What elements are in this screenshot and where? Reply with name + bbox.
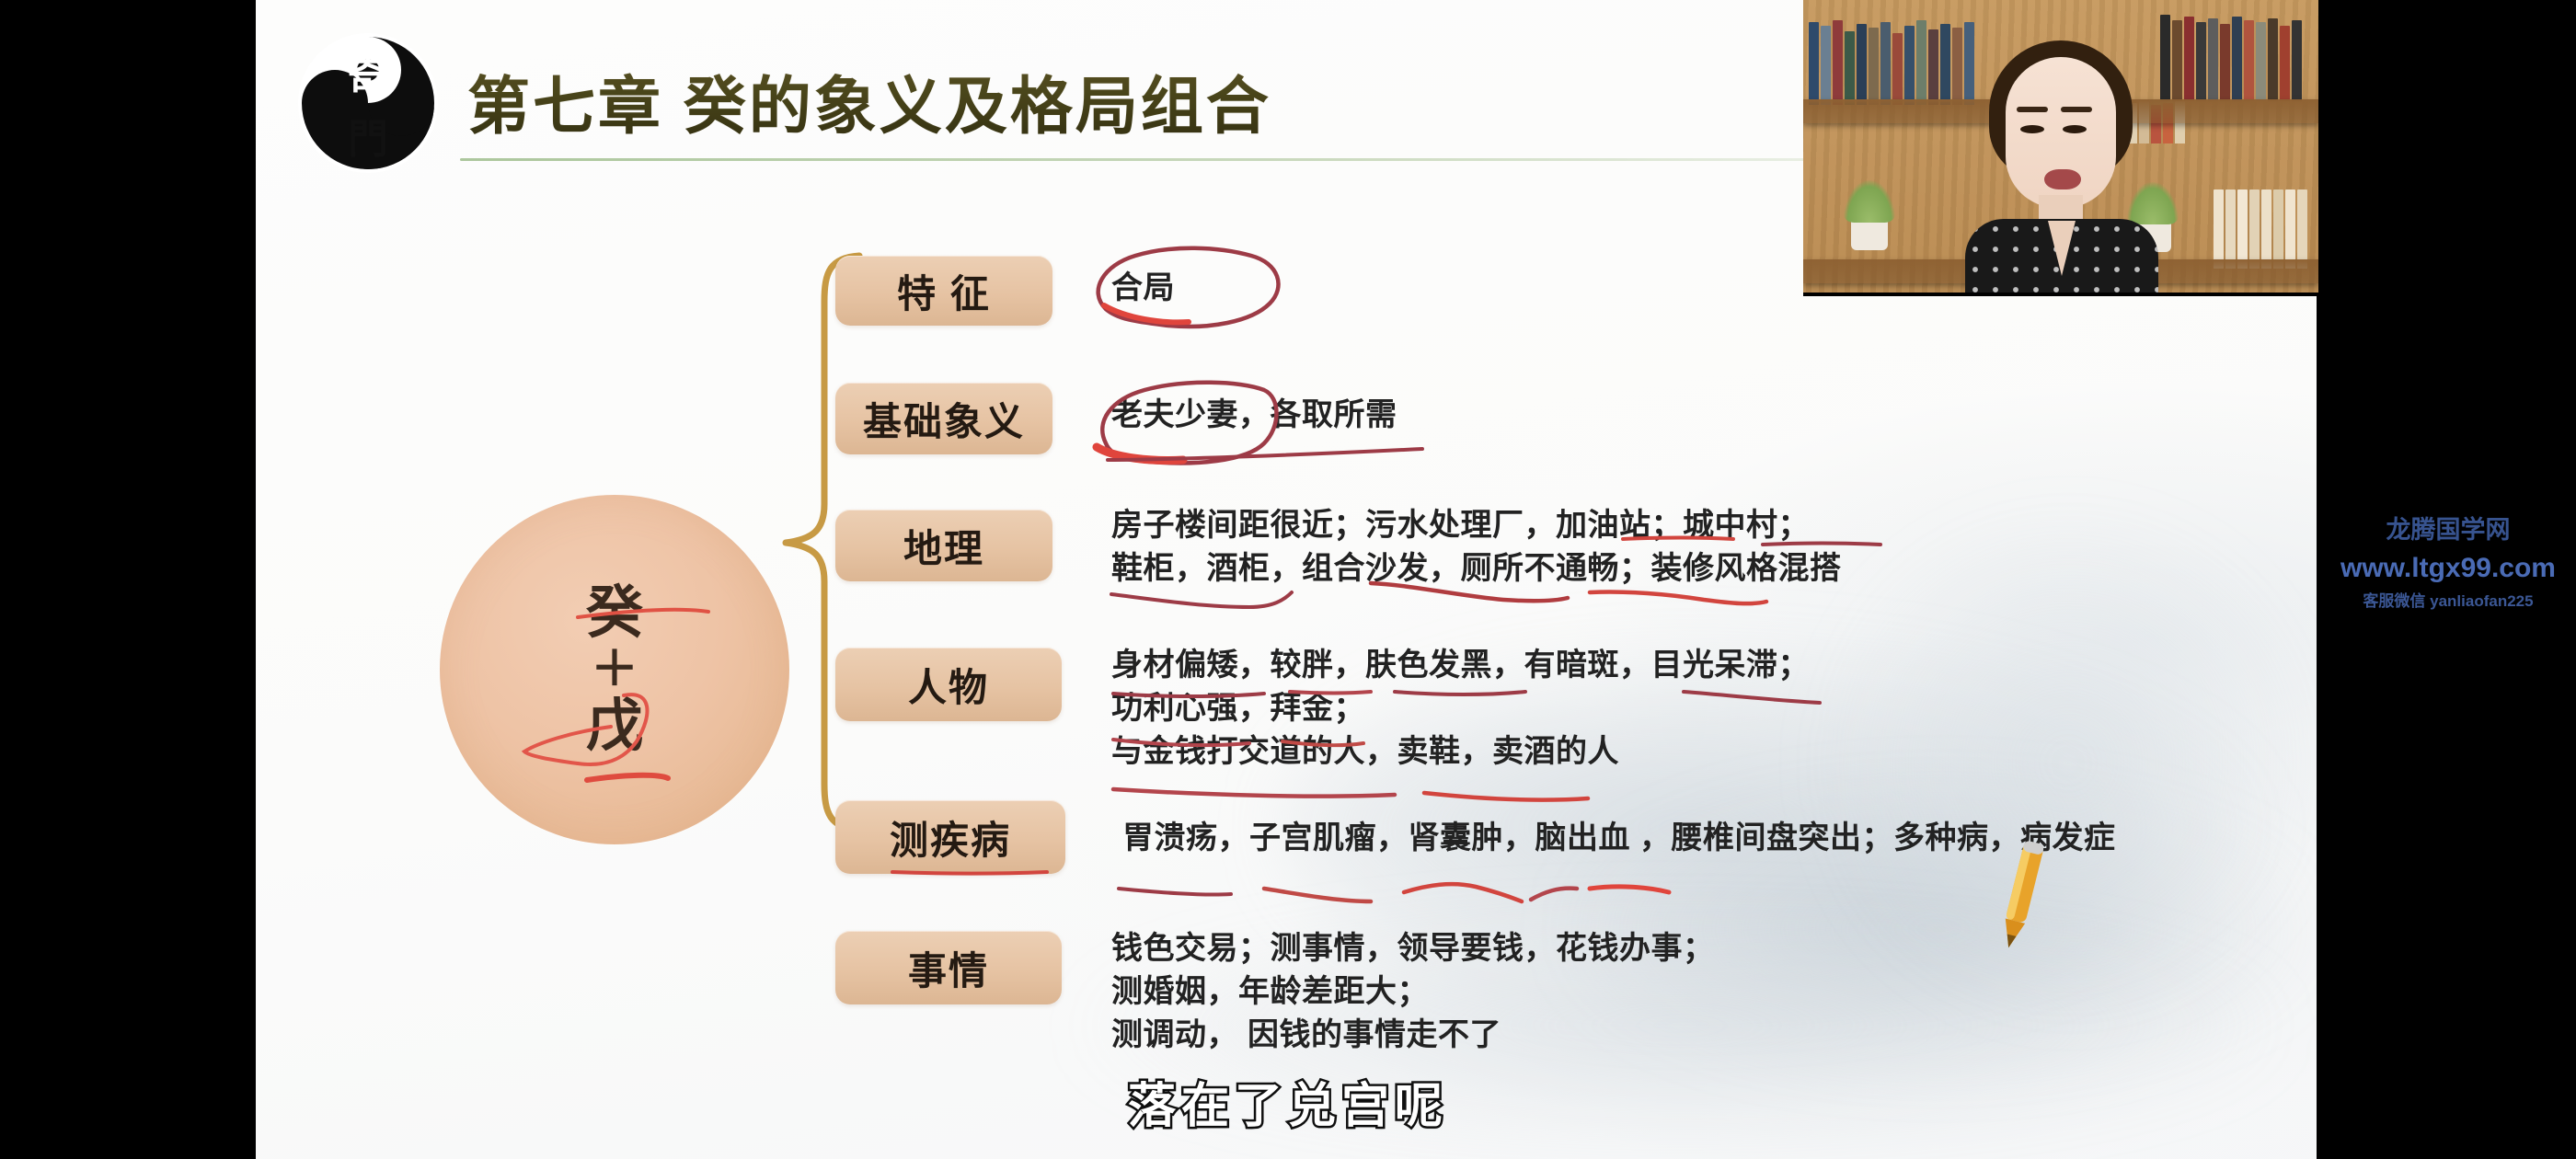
eyebrow-right bbox=[2061, 107, 2092, 112]
webcam-video-overlay[interactable] bbox=[1803, 0, 2318, 296]
eye-right bbox=[2063, 125, 2087, 133]
center-node-circle: 癸 ＋ 戊 bbox=[440, 495, 789, 844]
row-content-jichuxiangyi: 老夫少妻，各取所需 bbox=[1111, 394, 1397, 437]
potted-plant-left bbox=[1844, 180, 1895, 223]
page-title: 第七章 癸的象义及格局组合 bbox=[467, 55, 1271, 146]
row-label-shiqing[interactable]: 事情 bbox=[835, 931, 1062, 1004]
row-content-line: 与金钱打交道的人，卖鞋，卖酒的人 bbox=[1111, 730, 1810, 774]
presenter-avatar bbox=[1969, 40, 2153, 293]
bookshelf-books-lower-right bbox=[2214, 180, 2307, 269]
row-content-line: 功利心强，拜金； bbox=[1111, 687, 1810, 730]
row-content-line: 测调动， 因钱的事情走不了 bbox=[1111, 1014, 1715, 1057]
stylus-pen-cursor[interactable] bbox=[1989, 837, 2053, 957]
row-content-cejibing: 胃溃疡，子宫肌瘤，肾囊肿，脑出血 ，腰椎间盘突出；多种病，病发症 bbox=[1122, 817, 2115, 860]
row-content-shiqing: 钱色交易；测事情，领导要钱，花钱办事； 测婚姻，年龄差距大； 测调动， 因钱的事… bbox=[1111, 927, 1715, 1057]
row-content-tezheng: 合局 bbox=[1111, 267, 1175, 310]
eyebrow-left bbox=[2017, 107, 2048, 112]
row-content-line: 合局 bbox=[1111, 267, 1175, 310]
row-label-jichuxiangyi[interactable]: 基础象义 bbox=[835, 383, 1052, 454]
watermark-wechat: 客服微信 yanliaofan225 bbox=[2320, 591, 2576, 611]
row-content-line: 测婚姻，年龄差距大； bbox=[1111, 970, 1715, 1014]
row-label-renwu[interactable]: 人物 bbox=[835, 648, 1062, 721]
row-content-line: 钱色交易；测事情，领导要钱，花钱办事； bbox=[1111, 927, 1715, 970]
logo-top-char: 奇 bbox=[348, 53, 388, 100]
mouth bbox=[2044, 169, 2081, 189]
row-label-dili[interactable]: 地理 bbox=[835, 510, 1052, 581]
plant-pot-left bbox=[1851, 219, 1888, 250]
red-circle-annotation-heju bbox=[1071, 237, 1301, 348]
logo-bottom-char: 門 bbox=[348, 116, 388, 163]
watermark-url: www.ltgx99.com bbox=[2320, 551, 2576, 586]
video-player-frame: 奇 門 第七章 癸的象义及格局组合 癸 ＋ 戊 bbox=[0, 0, 2576, 1159]
row-content-line: 房子楼间距很近；污水处理厂，加油站；城中村； bbox=[1111, 504, 1842, 547]
video-subtitle: 落在了兑宫呢 bbox=[0, 1067, 2576, 1136]
qimen-yinyang-logo-icon: 奇 門 bbox=[298, 33, 438, 173]
row-content-renwu: 身材偏矮，较胖，肤色发黑，有暗斑，目光呆滞； 功利心强，拜金； 与金钱打交道的人… bbox=[1111, 644, 1810, 774]
watermark: 龙腾国学网 www.ltgx99.com 客服微信 yanliaofan225 bbox=[2320, 515, 2576, 612]
background-smoke-4 bbox=[1820, 515, 2317, 1012]
row-content-line: 鞋柜，酒柜，组合沙发，厕所不通畅；装修风格混搭 bbox=[1111, 547, 1842, 591]
row-content-line: 胃溃疡，子宫肌瘤，肾囊肿，脑出血 ，腰椎间盘突出；多种病，病发症 bbox=[1122, 817, 2115, 860]
center-node-red-annotation bbox=[440, 495, 789, 844]
row-content-dili: 房子楼间距很近；污水处理厂，加油站；城中村； 鞋柜，酒柜，组合沙发，厕所不通畅；… bbox=[1111, 504, 1842, 591]
watermark-site-name: 龙腾国学网 bbox=[2320, 515, 2576, 546]
eye-left bbox=[2020, 125, 2044, 133]
bookshelf-books-top-left bbox=[1809, 17, 1974, 105]
row-label-cejibing[interactable]: 测疾病 bbox=[835, 800, 1065, 874]
row-content-line: 老夫少妻，各取所需 bbox=[1111, 394, 1397, 437]
title-divider bbox=[460, 158, 2024, 161]
row-content-line: 身材偏矮，较胖，肤色发黑，有暗斑，目光呆滞； bbox=[1111, 644, 1810, 687]
row-label-tezheng[interactable]: 特 征 bbox=[835, 256, 1052, 326]
